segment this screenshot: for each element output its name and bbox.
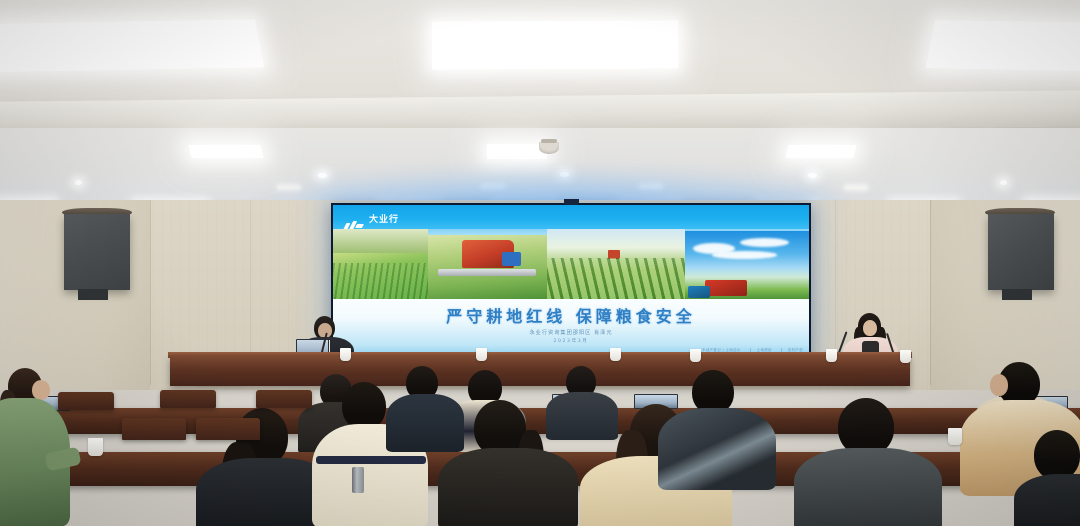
slide-header-band: 大业行 D A Y E H A N G [333,205,809,229]
wall-seam [930,200,931,385]
slide-photo-crop-rows [547,229,685,299]
face [990,374,1008,396]
paper-cup [610,348,621,361]
ceiling-light-panel [188,145,263,158]
torso [794,448,942,526]
ceiling-light-panel [926,20,1080,72]
chair [160,390,216,408]
face [863,320,877,336]
wall-seam [150,200,151,385]
wall-speaker-left [64,214,130,290]
chair [256,390,312,408]
thermos-bottle [352,467,364,493]
ceiling-downlight [75,180,82,185]
ceiling-light-panel [487,144,547,159]
torso [658,408,776,490]
wall-speaker-right [988,214,1054,290]
torso [546,392,618,440]
led-presentation-screen[interactable]: 大业行 D A Y E H A N G 严守耕地红线 保障粮食 [331,203,811,359]
paper-cup [476,348,487,361]
slide-title: 严守耕地红线 保障粮食安全 [333,303,809,327]
torso [1014,474,1080,526]
slide-photo-strip [333,229,809,299]
paper-cup [690,349,701,362]
ceiling-light-panel [785,145,856,158]
logo-company-name: 大业行 [369,214,399,224]
slide-date: 2023年3月 [333,338,809,344]
paper-cup [948,428,962,445]
head [342,382,386,430]
ceiling-light-panel [0,19,264,72]
chair [58,392,114,410]
head [1034,430,1080,480]
paper-cup [826,349,837,362]
chair [122,418,186,440]
paper-cup [88,438,103,456]
paper-cup [340,348,351,361]
meeting-room-photo: 大业行 D A Y E H A N G 严守耕地红线 保障粮食 [0,0,1080,526]
head-table [170,356,910,386]
paper-cup [900,350,911,363]
torso [386,394,464,452]
slide-photo-green-fields [333,229,428,299]
chair [196,418,260,440]
sprinkler-head-icon [539,142,559,154]
face [32,380,50,400]
slide-subtitle: 永业行资询集团邵阳区 肖泽元 [333,329,809,336]
torso [438,448,578,526]
ceiling-light-panel [432,20,678,69]
ceiling-downlight [1000,180,1007,185]
slide-photo-harvester [428,235,547,299]
slide-photo-blue-sky-farm [685,231,809,299]
